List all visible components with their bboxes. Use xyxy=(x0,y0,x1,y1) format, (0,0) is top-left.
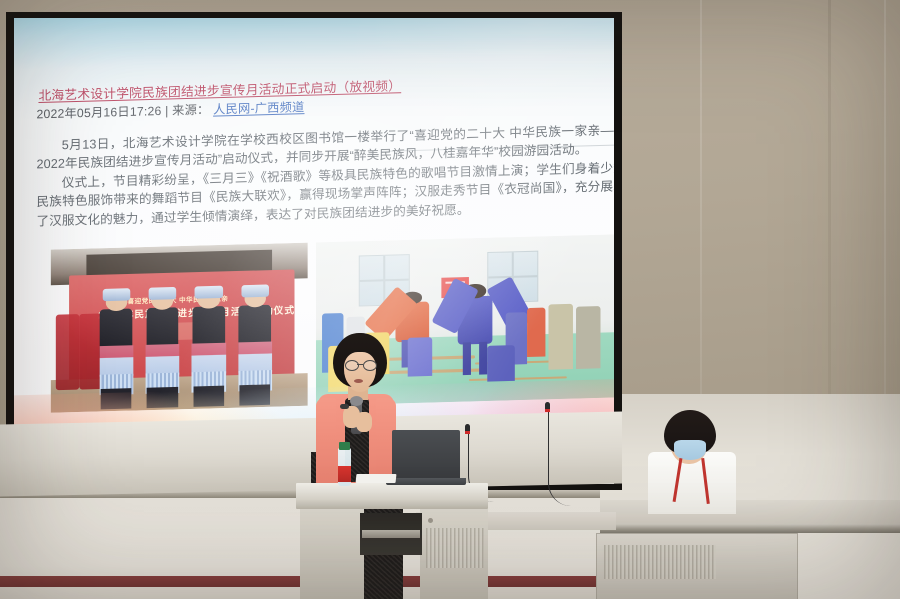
speaker-hand-right xyxy=(356,412,372,432)
performer-2 xyxy=(143,292,182,394)
speaker-glasses-bridge xyxy=(357,364,363,365)
water-bottle-label xyxy=(338,466,351,482)
spectator-9 xyxy=(576,306,600,369)
gooseneck-mic-indicator-2 xyxy=(545,409,550,412)
slide-photo-left: 喜迎党的二十大 中华民族一家亲 2022年民族团结进步宣传月活动启动仪式 xyxy=(51,243,308,413)
speaker-wristwatch xyxy=(340,404,349,409)
speaker-blazer-lapel-left xyxy=(316,398,336,486)
microphone-head xyxy=(350,396,363,406)
podium-top xyxy=(296,483,488,509)
slide-date: 2022年05月16日17:26 xyxy=(36,104,161,122)
speaker-glasses-right xyxy=(363,360,377,371)
performer-1 xyxy=(97,293,136,395)
water-bottle-cap xyxy=(339,442,350,450)
laptop-screen[interactable] xyxy=(392,430,460,480)
documents-on-podium xyxy=(356,474,397,483)
speaker-mouth xyxy=(354,379,363,383)
spectator-7 xyxy=(527,308,545,357)
spectator-5 xyxy=(408,337,432,377)
console-vent xyxy=(604,545,716,579)
spectator-8 xyxy=(548,304,572,370)
gooseneck-microphone-stand-2 xyxy=(548,406,571,506)
side-performer-left xyxy=(56,314,79,390)
gooseneck-mic-indicator xyxy=(465,431,470,434)
source-label: 来源： xyxy=(172,102,209,117)
speaker-glasses-left xyxy=(345,360,359,371)
av-desk-rail xyxy=(600,524,900,533)
lecture-hall-scene: 北海艺术设计学院民族团结进步宣传月活动正式启动（放视频） 2022年05月16日… xyxy=(0,0,900,599)
performer-3 xyxy=(190,290,229,392)
podium-shelf-board xyxy=(362,530,420,538)
av-desk-slab xyxy=(600,500,900,526)
podium-screw xyxy=(428,518,433,523)
meta-separator: | xyxy=(165,104,168,118)
podium-left-panel xyxy=(300,509,364,599)
slide-body: 5月13日，北海艺术设计学院在学校西校区图书馆一楼举行了“喜迎党的二十大 中华民… xyxy=(36,121,614,231)
spectator-10 xyxy=(487,345,515,382)
podium-vent xyxy=(426,528,484,568)
laptop-base[interactable] xyxy=(386,478,466,485)
performer-4 xyxy=(236,289,275,391)
source-link[interactable]: 人民网-广西频道 xyxy=(213,100,304,117)
